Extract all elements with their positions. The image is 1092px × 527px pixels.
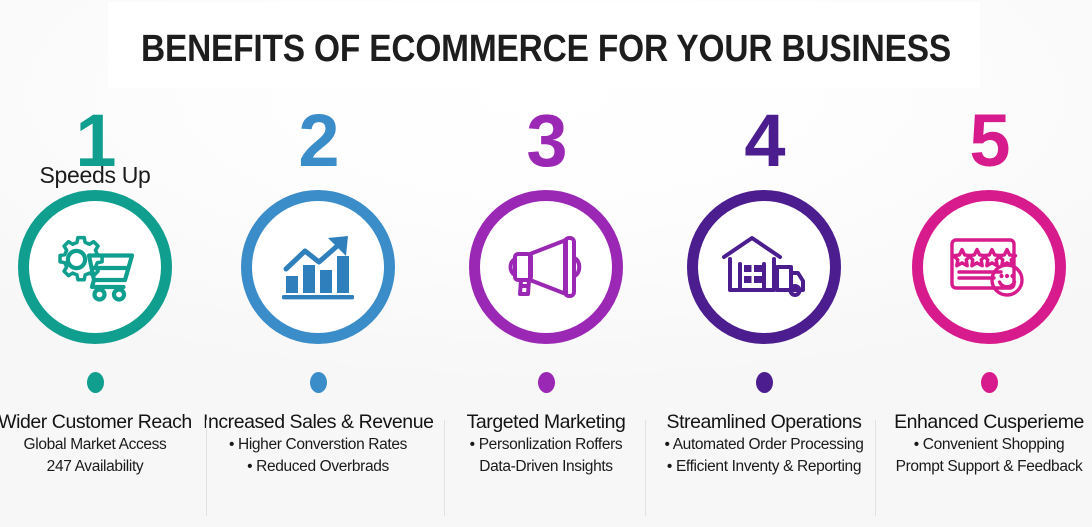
benefit-caption-4: Streamlined Operations • Automated Order… — [649, 410, 879, 478]
speeds-up-note: Speeds Up — [0, 162, 204, 189]
benefit-column-2: 2 Increas — [209, 100, 427, 520]
column-divider-4 — [875, 420, 876, 516]
benefit-number-3: 3 — [437, 104, 655, 178]
benefit-heading-1: Wider Customer Reach — [0, 410, 210, 434]
benefit-number-4: 4 — [655, 104, 873, 178]
benefit-heading-5: Enhanced Cusperieme — [874, 410, 1092, 434]
benefit-dot-3 — [538, 372, 555, 393]
infographic-poster: BENEFITS OF ECOMMERCE FOR YOUR BUSINESS … — [0, 0, 1092, 527]
benefit-dot-2 — [310, 372, 327, 393]
benefit-icon-ring-3[interactable] — [469, 190, 623, 344]
benefit-icon-ring-5[interactable] — [912, 190, 1066, 344]
benefit-column-1: 1 Speeds Up Wider Custome — [0, 100, 204, 520]
column-divider-2 — [444, 420, 445, 516]
benefit-column-5: 5 — [880, 100, 1092, 520]
benefit-bullet-5-1: • Convenient Shopping — [874, 434, 1092, 456]
page-title: BENEFITS OF ECOMMERCE FOR YOUR BUSINESS — [66, 28, 1027, 71]
benefit-column-4: 4 — [655, 100, 873, 520]
benefit-number-5: 5 — [880, 104, 1092, 178]
benefit-bullet-2-2: • Reduced Overbrads — [203, 456, 433, 478]
benefit-dot-4 — [756, 372, 773, 393]
column-divider-3 — [645, 420, 646, 516]
benefit-icon-ring-2[interactable] — [241, 190, 395, 344]
benefit-caption-5: Enhanced Cusperieme • Convenient Shoppin… — [874, 410, 1092, 478]
benefit-bullet-5-2: Prompt Support & Feedback — [874, 456, 1092, 478]
bar-chart-growth-icon — [252, 201, 384, 333]
benefit-bullet-4-1: • Automated Order Processing — [649, 434, 879, 456]
review-card-stars-smiley-icon — [923, 201, 1055, 333]
benefit-heading-2: Increased Sales & Revenue — [203, 410, 433, 434]
column-divider-1 — [206, 420, 207, 516]
benefit-bullet-3-2: Data-Driven Insights — [431, 456, 661, 478]
gear-shopping-cart-icon — [29, 201, 161, 333]
benefit-bullet-3-1: • Personlization Roffers — [431, 434, 661, 456]
benefit-dot-1 — [87, 372, 104, 393]
megaphone-icon — [480, 201, 612, 333]
benefit-bullet-1-1: Global Market Access — [0, 434, 210, 456]
benefit-caption-2: Increased Sales & Revenue • Higher Conve… — [203, 410, 433, 478]
benefit-heading-4: Streamlined Operations — [649, 410, 879, 434]
benefit-bullet-2-1: • Higher Converstion Rates — [203, 434, 433, 456]
benefit-number-2: 2 — [209, 104, 427, 178]
benefit-bullet-1-2: 247 Availability — [0, 456, 210, 478]
benefit-dot-5 — [981, 372, 998, 393]
benefit-caption-1: Wider Customer Reach Global Market Acces… — [0, 410, 210, 478]
warehouse-truck-icon — [698, 201, 830, 333]
benefit-column-3: 3 Targeted Marketing • — [437, 100, 655, 520]
benefit-icon-ring-1[interactable] — [18, 190, 172, 344]
benefit-heading-3: Targeted Marketing — [431, 410, 661, 434]
benefit-bullet-4-2: • Efficient Inventy & Reporting — [649, 456, 879, 478]
benefit-caption-3: Targeted Marketing • Personlization Roff… — [431, 410, 661, 478]
benefit-icon-ring-4[interactable] — [687, 190, 841, 344]
